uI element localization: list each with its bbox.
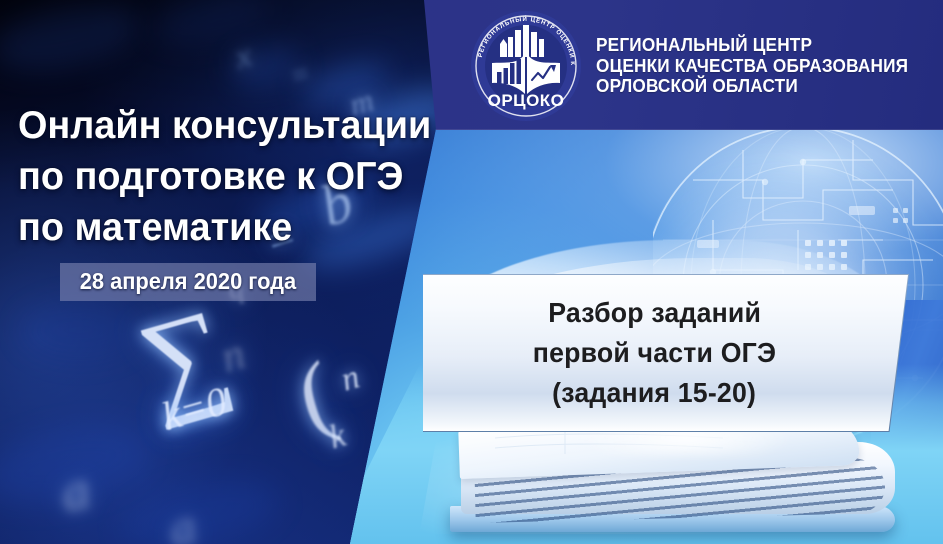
title-line-1: Онлайн консультации xyxy=(18,100,435,151)
glow-blob xyxy=(0,413,155,517)
date-badge: 28 апреля 2020 года xyxy=(60,263,316,301)
org-name-line-1: РЕГИОНАЛЬНЫЙ ЦЕНТР xyxy=(596,35,908,56)
math-symbol-summation: ∑ xyxy=(125,281,243,435)
glow-blob xyxy=(146,0,273,53)
orcoko-logo[interactable]: РЕГИОНАЛЬНЫЙ ЦЕНТР ОЦЕНКИ КАЧЕСТВА ОБРАЗ… xyxy=(470,10,582,122)
header-content: РЕГИОНАЛЬНЫЙ ЦЕНТР ОЦЕНКИ КАЧЕСТВА ОБРАЗ… xyxy=(470,0,943,130)
glow-blob xyxy=(226,37,304,95)
math-symbol-n: n xyxy=(337,358,364,399)
math-symbol-n-faint: n xyxy=(215,328,250,383)
callout-line-1: Разбор заданий xyxy=(548,293,761,333)
callout-line-3: (задания 15-20) xyxy=(553,373,757,413)
glow-blob xyxy=(116,469,285,544)
math-symbol-paren: ( xyxy=(286,340,345,450)
date-badge-label: 28 апреля 2020 года xyxy=(80,268,296,295)
glow-blob xyxy=(0,0,145,81)
math-symbol-k: k xyxy=(325,417,350,458)
callout-panel: Разбор заданий первой части ОГЭ (задания… xyxy=(423,275,908,431)
svg-text:ОРЦОКО: ОРЦОКО xyxy=(488,91,565,110)
org-name-line-2: ОЦЕНКИ КАЧЕСТВА ОБРАЗОВАНИЯ xyxy=(596,56,908,77)
title-line-2: по подготовке к ОГЭ xyxy=(18,151,435,202)
title-line-3: по математике xyxy=(18,202,435,253)
organization-name: РЕГИОНАЛЬНЫЙ ЦЕНТР ОЦЕНКИ КАЧЕСТВА ОБРАЗ… xyxy=(596,33,932,97)
glow-blob xyxy=(20,300,140,360)
callout-text: Разбор заданий первой части ОГЭ (задания… xyxy=(423,275,908,431)
math-symbol-k-equals-0: k=0 xyxy=(157,377,232,440)
poster-root: x = m b = q n ∑ k=0 ( n k a a xyxy=(0,0,943,544)
callout-line-2: первой части ОГЭ xyxy=(533,333,776,373)
main-title-block: Онлайн консультации по подготовке к ОГЭ … xyxy=(18,100,448,301)
org-name-line-3: ОРЛОВСКОЙ ОБЛАСТИ xyxy=(596,76,908,97)
